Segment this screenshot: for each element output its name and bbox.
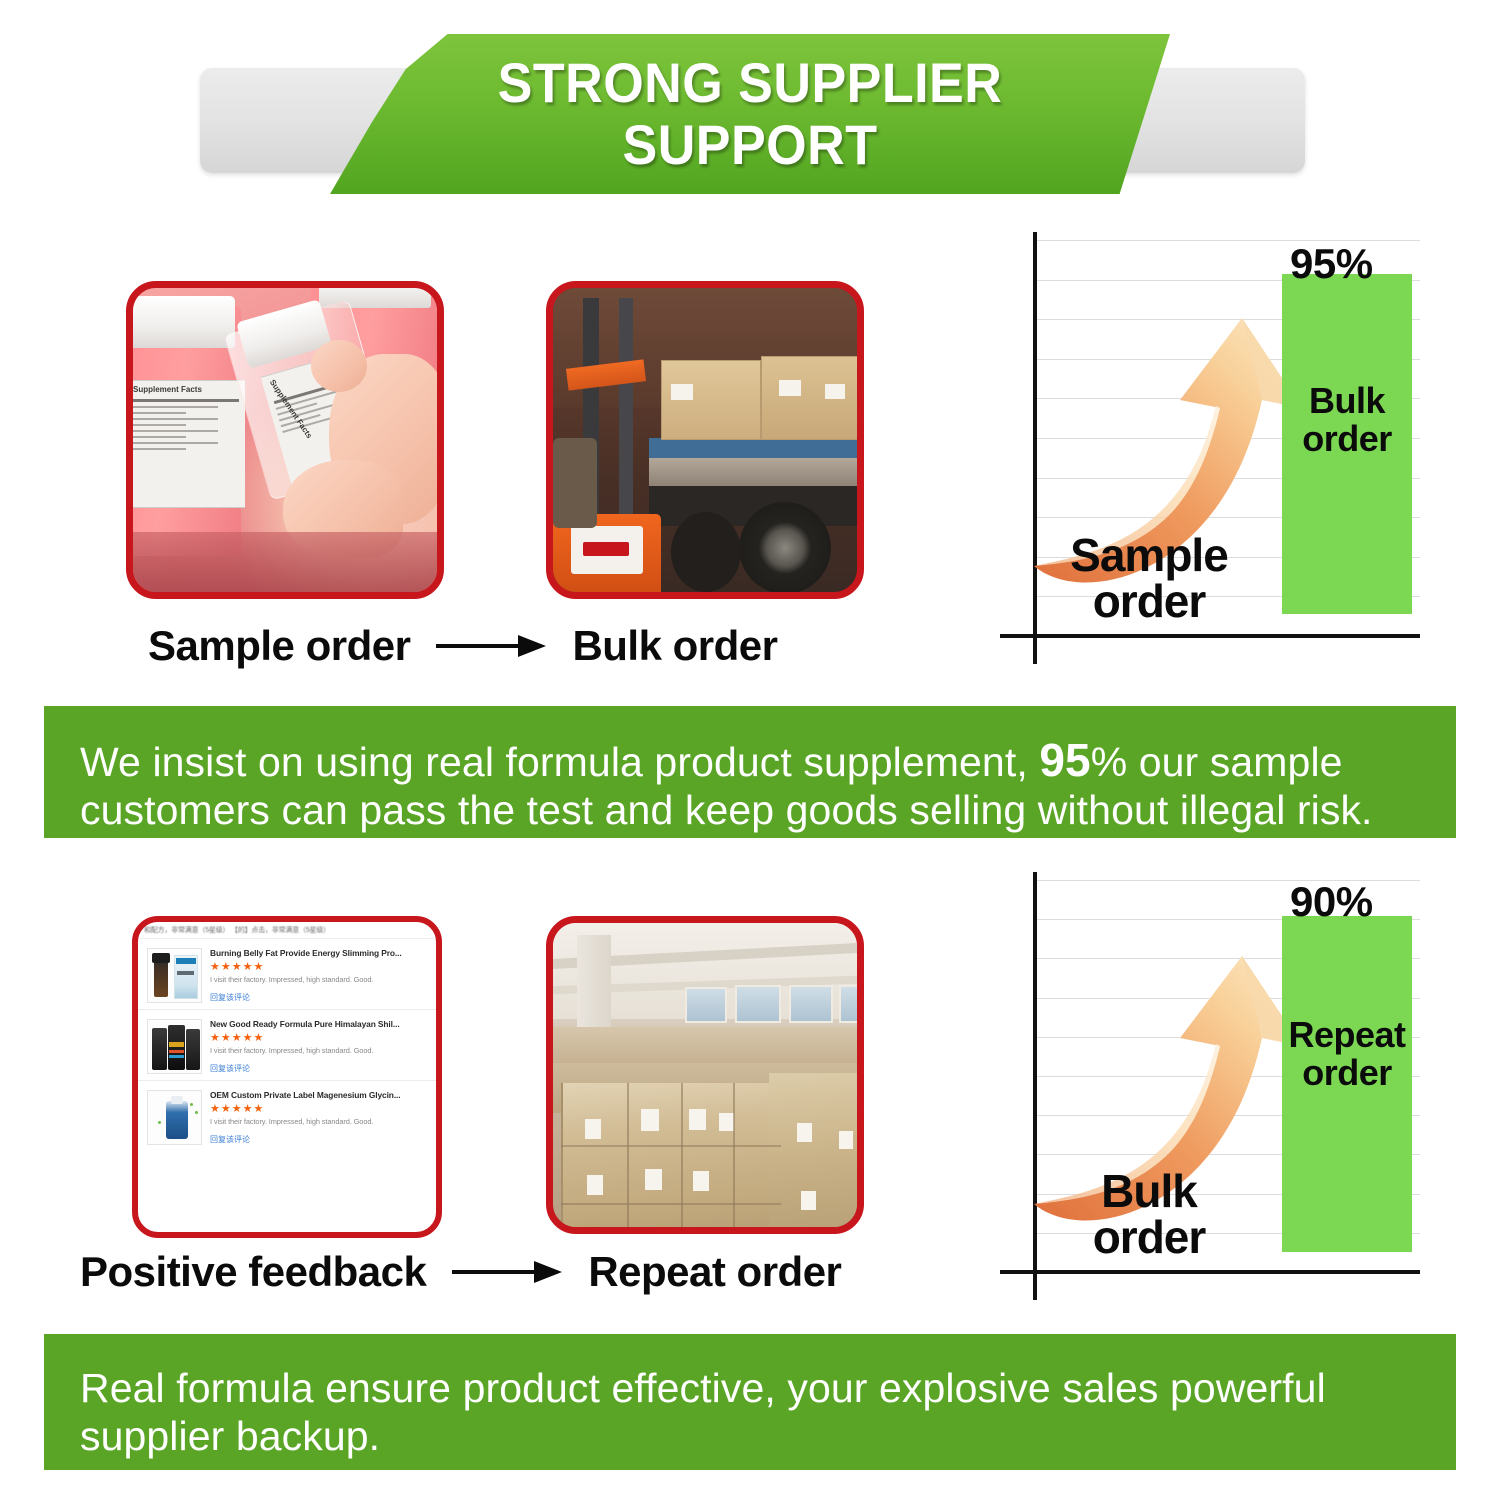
chart-x-axis [1000, 634, 1420, 638]
box-label [719, 1113, 734, 1131]
review-title[interactable]: OEM Custom Private Label Magenesium Glyc… [210, 1090, 426, 1100]
box-seam [561, 1145, 781, 1147]
banner1-prefix: We insist on using real formula product … [80, 739, 1039, 785]
chart1-percent-label: 95% [1290, 240, 1373, 288]
star-rating-icon: ★★★★★ [210, 960, 426, 973]
row2-caption: Positive feedback Repeat order [80, 1248, 841, 1296]
header-banner: STRONG SUPPLIER SUPPORT [0, 0, 1500, 205]
warehouse-window [735, 985, 781, 1023]
review-title[interactable]: New Good Ready Formula Pure Himalayan Sh… [210, 1019, 426, 1029]
review-product-thumbnail [147, 948, 202, 1003]
chart-x-axis [1000, 1270, 1420, 1274]
forklift-loading-photo [546, 281, 864, 599]
chart1-bar-bulk: Bulk order [1282, 274, 1412, 614]
box-seam [561, 1203, 781, 1205]
banner2-text: Real formula ensure product effective, y… [80, 1365, 1326, 1459]
chart1-bar-label: Bulk order [1282, 382, 1412, 458]
label-heading-text: Supplement Facts [133, 385, 202, 394]
reviews-header-text: 和配方，非常满意（5星级） 【的】点击，非常满意（5星级） [138, 922, 436, 938]
chart-bulk-to-repeat: Bulk order Repeat order 90% [1000, 872, 1420, 1300]
pallet-stack-right [769, 1073, 864, 1234]
banner1-highlight: 95 [1039, 734, 1090, 786]
truck-bed [649, 456, 864, 486]
chart2-base-label: Bulk order [1044, 1168, 1254, 1260]
reply-review-link[interactable]: 回复该评论 [210, 1134, 426, 1145]
review-product-thumbnail [147, 1019, 202, 1074]
box-label [839, 1131, 853, 1149]
star-rating-icon: ★★★★★ [210, 1102, 426, 1115]
row2-caption-from: Positive feedback [80, 1248, 426, 1296]
warehouse-pillar [577, 935, 611, 1039]
chart2-percent-label: 90% [1290, 878, 1373, 926]
box-seam [627, 1083, 629, 1234]
row2-caption-to: Repeat order [588, 1248, 841, 1296]
supplement-bottles-photo: Supplement Facts Supplement Facts [126, 281, 444, 599]
box-label [779, 380, 801, 396]
box-label [797, 1123, 812, 1142]
box-seam [733, 1083, 735, 1234]
star-rating-icon: ★★★★★ [210, 1031, 426, 1044]
positive-reviews-screenshot: 和配方，非常满意（5星级） 【的】点击，非常满意（5星级） Burning Be… [132, 916, 442, 1238]
chart1-base-label: Sample order [1044, 532, 1254, 624]
box-label [801, 1191, 816, 1210]
warehouse-window [685, 987, 727, 1023]
list-item[interactable]: Burning Belly Fat Provide Energy Slimmin… [138, 938, 436, 1009]
box-label [645, 1169, 662, 1190]
thumb [311, 340, 367, 392]
review-title[interactable]: Burning Belly Fat Provide Energy Slimmin… [210, 948, 426, 958]
pallet-stack-front [561, 1083, 781, 1234]
box-label [641, 1109, 659, 1131]
forklift-brand-mark [583, 542, 629, 556]
bottle-cap-back-left [127, 296, 235, 348]
reply-review-link[interactable]: 回复该评论 [210, 1063, 426, 1074]
box-label [693, 1171, 709, 1191]
cardboard-box [661, 360, 761, 440]
blue-pallet [649, 438, 864, 458]
table-surface [133, 532, 437, 592]
review-product-thumbnail [147, 1090, 202, 1145]
bottle-label-back-left: Supplement Facts [127, 380, 245, 508]
row1-caption-from: Sample order [148, 622, 410, 670]
box-label [671, 384, 693, 400]
cardboard-box [761, 356, 864, 440]
list-item[interactable]: New Good Ready Formula Pure Himalayan Sh… [138, 1009, 436, 1080]
banner-sample-pass-rate: We insist on using real formula product … [44, 706, 1456, 838]
page-title: STRONG SUPPLIER SUPPORT [359, 52, 1140, 176]
box-label [689, 1109, 706, 1130]
right-arrow-icon [436, 629, 546, 663]
review-text: I visit their factory. Impressed, high s… [210, 975, 426, 984]
box-label [587, 1175, 603, 1195]
banner-real-formula: Real formula ensure product effective, y… [44, 1334, 1456, 1470]
right-arrow-icon [452, 1255, 562, 1289]
forklift-driver [553, 438, 597, 528]
chart2-bar-label: Repeat order [1282, 1016, 1412, 1092]
box-label [825, 384, 845, 399]
warehouse-window [789, 985, 833, 1023]
row1-caption-to: Bulk order [572, 622, 777, 670]
review-text: I visit their factory. Impressed, high s… [210, 1117, 426, 1126]
warehouse-pallets-photo [546, 916, 864, 1234]
truck-wheel [671, 512, 741, 592]
reply-review-link[interactable]: 回复该评论 [210, 992, 426, 1003]
chart-sample-to-bulk: Sample order Bulk order 95% [1000, 232, 1420, 664]
box-seam [681, 1083, 683, 1234]
chart2-bar-repeat: Repeat order [1282, 916, 1412, 1252]
review-text: I visit their factory. Impressed, high s… [210, 1046, 426, 1055]
box-label [585, 1119, 601, 1139]
row1-caption: Sample order Bulk order [148, 622, 777, 670]
truck-wheel [739, 502, 831, 594]
list-item[interactable]: OEM Custom Private Label Magenesium Glyc… [138, 1080, 436, 1151]
warehouse-window [839, 985, 864, 1023]
